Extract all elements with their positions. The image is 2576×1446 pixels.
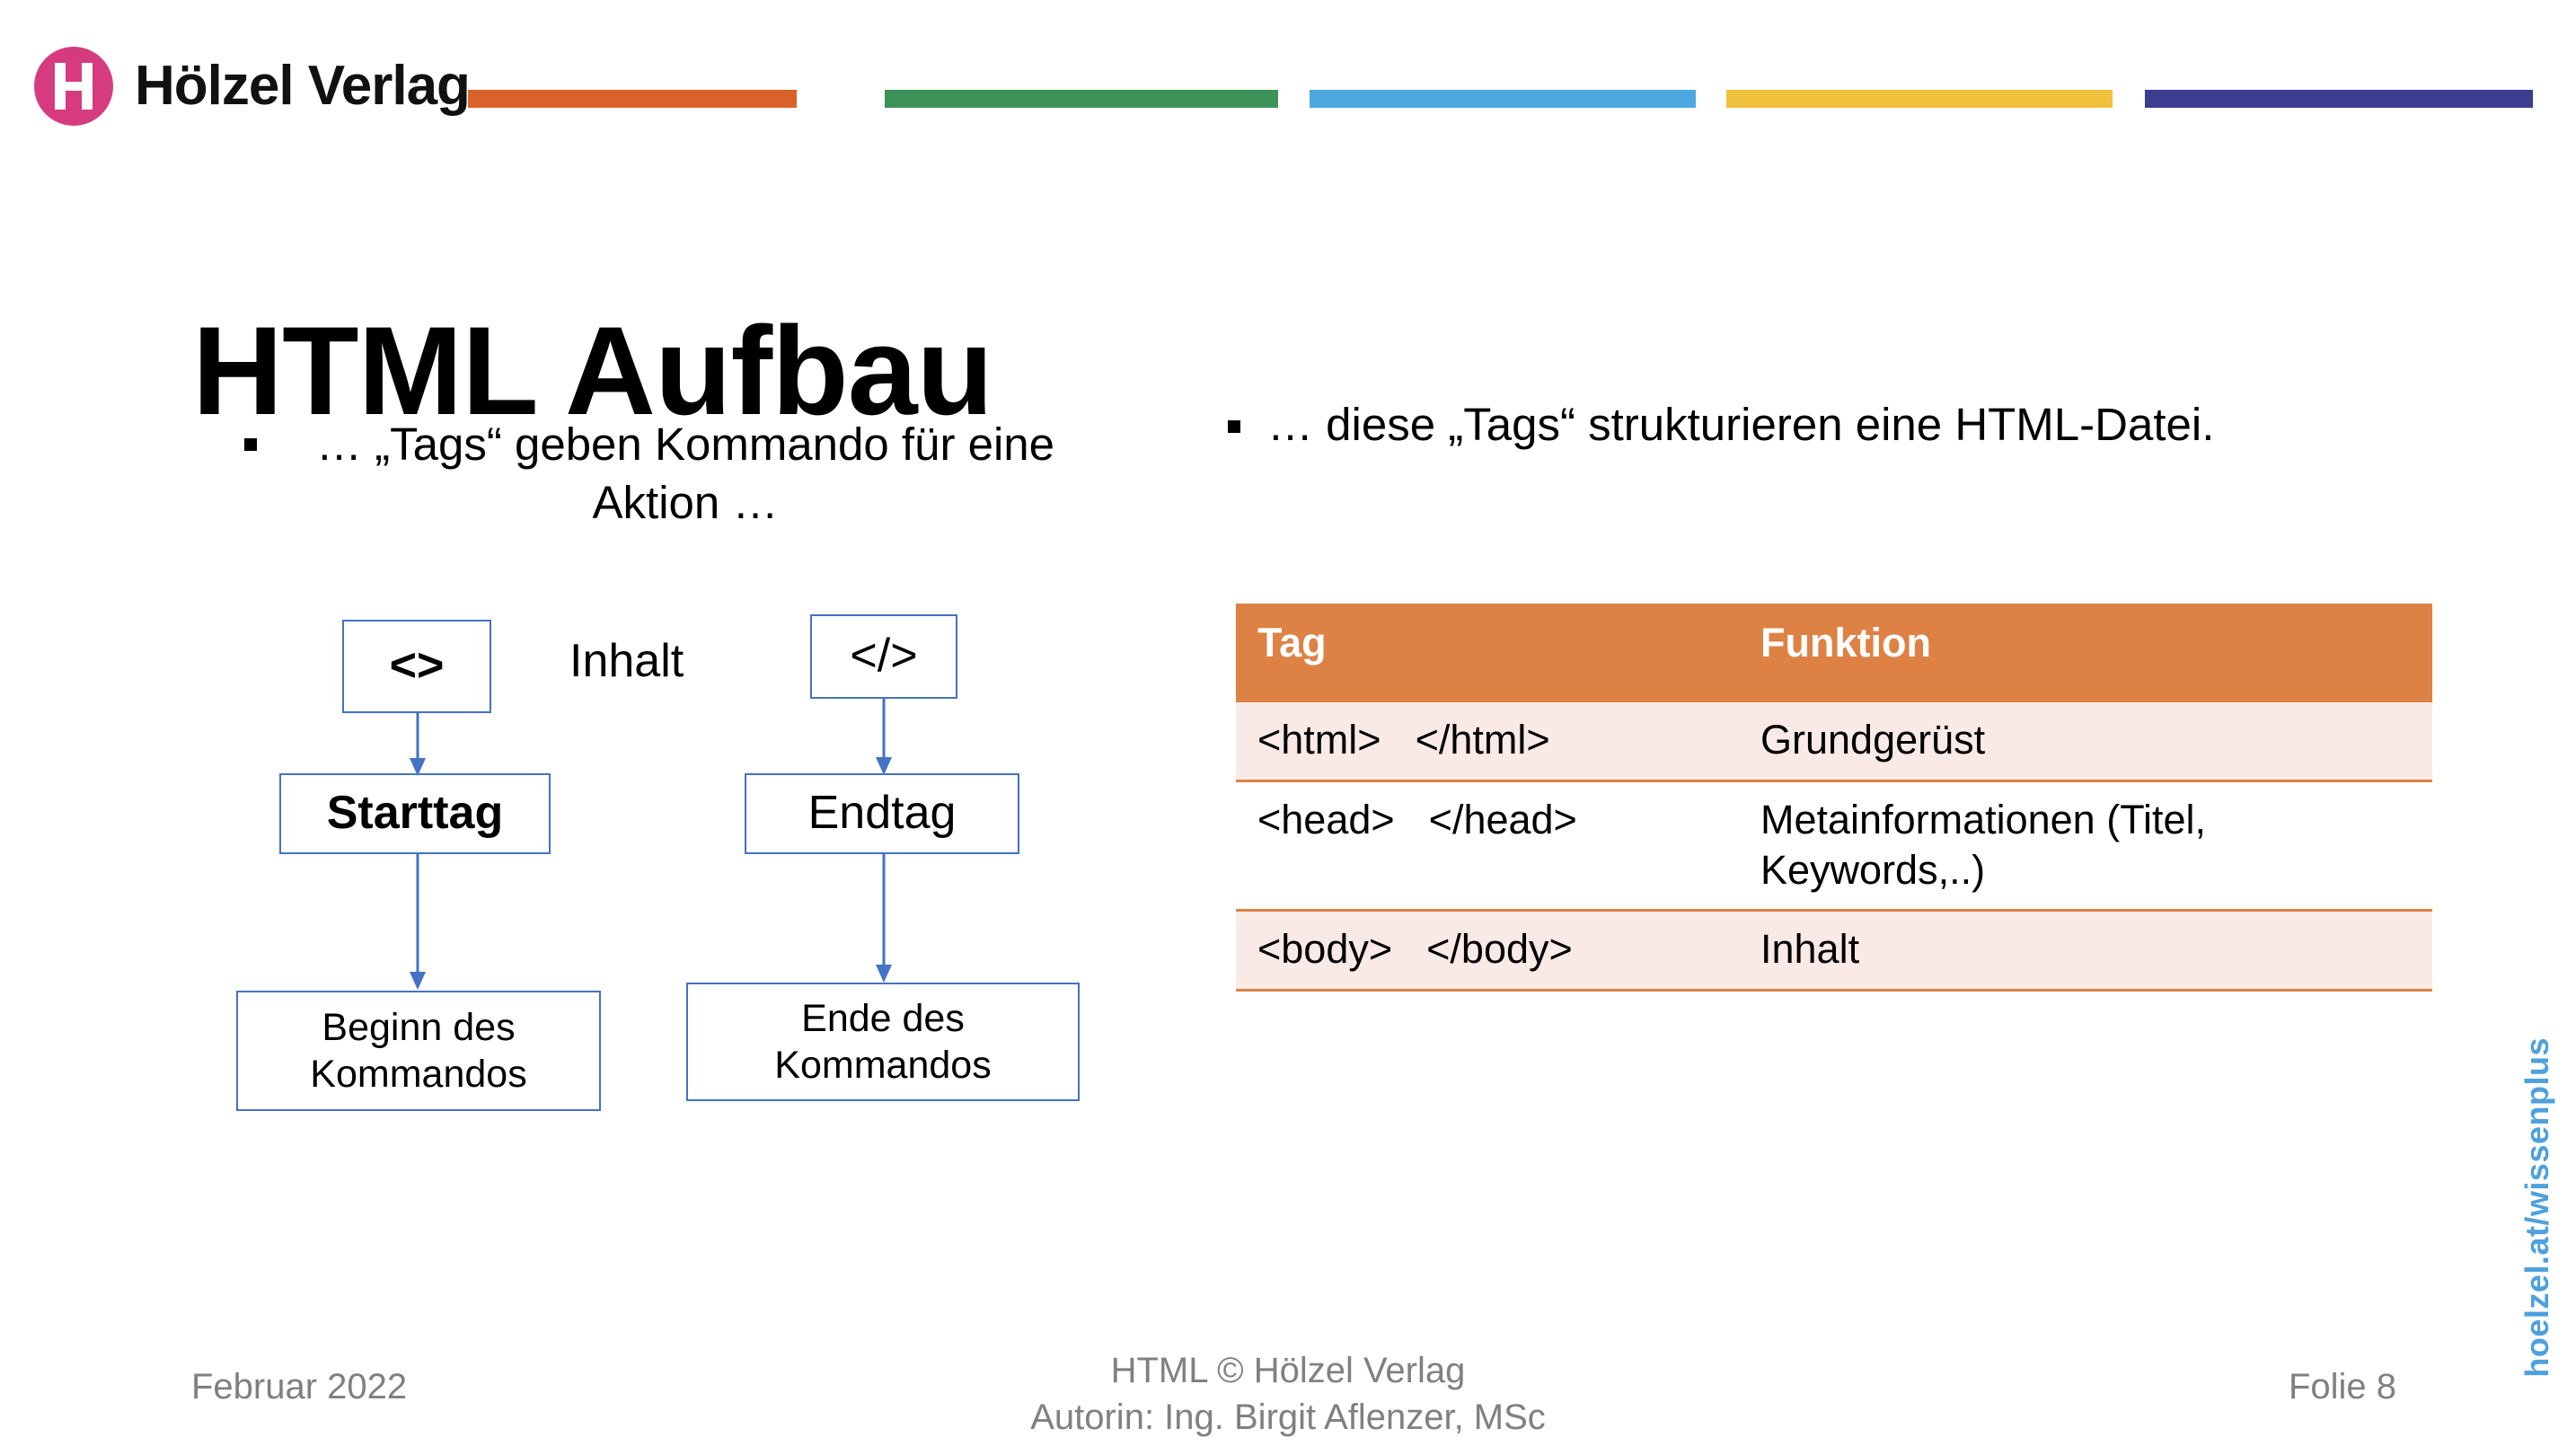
footer-credits-line2: Autorin: Ing. Birgit Aflenzer, MSc (0, 1394, 2576, 1441)
cell-funktion: Inhalt (1739, 911, 2432, 991)
hoelzel-h-logo-icon (34, 47, 113, 126)
slide-canvas: Hölzel Verlag HTML Aufbau … „Tags“ geben… (0, 0, 2576, 1446)
endtag-box: Endtag (745, 773, 1019, 854)
starttag-box: Starttag (279, 773, 551, 854)
footer-credits: HTML © Hölzel Verlag Autorin: Ing. Birgi… (0, 1347, 2576, 1441)
cell-funktion: Metainformationen (Titel, Keywords,..) (1739, 780, 2432, 911)
bullet-left-text: … „Tags“ geben Kommando für eine Aktion … (259, 415, 1112, 533)
cell-tag: <body> </body> (1236, 911, 1739, 991)
start-tag-icon-box: <> (342, 620, 491, 713)
brand-logo: Hölzel Verlag (34, 47, 470, 126)
cell-tag: <head> </head> (1236, 780, 1739, 911)
tag-close: </body> (1426, 924, 1573, 974)
tag-close: </html> (1416, 715, 1550, 765)
header-rule-yellow (1726, 90, 2113, 108)
table-row: <html> </html> Grundgerüst (1236, 702, 2432, 780)
header-rule-green (885, 90, 1278, 108)
arrow-starttag-to-beginn (395, 853, 440, 993)
inhalt-label: Inhalt (569, 634, 684, 688)
table-row: <head> </head> Metainformationen (Titel,… (1236, 780, 2432, 911)
ende-des-kommandos-box: Ende des Kommandos (686, 983, 1080, 1101)
header-rule-navy (2145, 90, 2533, 108)
header-rule-blue (1310, 90, 1696, 108)
arrow-endtag-to-ende (861, 853, 906, 986)
bullet-square-icon (244, 438, 257, 451)
tag-close: </head> (1429, 795, 1577, 845)
tag-open: <head> (1257, 795, 1395, 845)
beginn-des-kommandos-label: Beginn des Kommandos (238, 1004, 599, 1098)
footer-slide-number: Folie 8 (2289, 1363, 2396, 1410)
tag-function-table: Tag Funktion <html> </html> Grundgerüst … (1236, 604, 2432, 992)
cell-tag: <html> </html> (1236, 702, 1739, 780)
header-rule-orange (468, 90, 797, 108)
arrow-end-icon-to-endtag (861, 698, 906, 779)
table-body: <html> </html> Grundgerüst <head> </head… (1236, 702, 2432, 991)
bullet-right: … diese „Tags“ strukturieren eine HTML-D… (1228, 395, 2234, 454)
column-header-tag: Tag (1236, 604, 1739, 702)
starttag-label: Starttag (327, 785, 503, 842)
bullet-left: … „Tags“ geben Kommando für eine Aktion … (244, 415, 1134, 533)
angle-brackets-icon: <> (390, 638, 445, 694)
table-header: Tag Funktion (1236, 604, 2432, 702)
column-header-funktion: Funktion (1739, 604, 2432, 702)
endtag-label: Endtag (808, 785, 957, 842)
end-tag-icon-box: </> (810, 614, 957, 699)
brand-wordmark: Hölzel Verlag (135, 58, 470, 114)
side-url-link[interactable]: hoelzel.at/wissenplus (2519, 1037, 2556, 1378)
tag-open: <html> (1257, 715, 1381, 765)
arrow-start-icon-to-starttag (395, 711, 440, 780)
closing-angle-brackets-icon: </> (850, 628, 917, 684)
table-header-row: Tag Funktion (1236, 604, 2432, 702)
bullet-square-icon (1228, 420, 1240, 433)
tag-open: <body> (1257, 924, 1392, 974)
ende-des-kommandos-label: Ende des Kommandos (688, 995, 1078, 1089)
beginn-des-kommandos-box: Beginn des Kommandos (236, 991, 601, 1111)
bullet-right-text: … diese „Tags“ strukturieren eine HTML-D… (1267, 395, 2219, 454)
cell-funktion: Grundgerüst (1739, 702, 2432, 780)
footer-credits-line1: HTML © Hölzel Verlag (0, 1347, 2576, 1394)
table-row: <body> </body> Inhalt (1236, 911, 2432, 991)
